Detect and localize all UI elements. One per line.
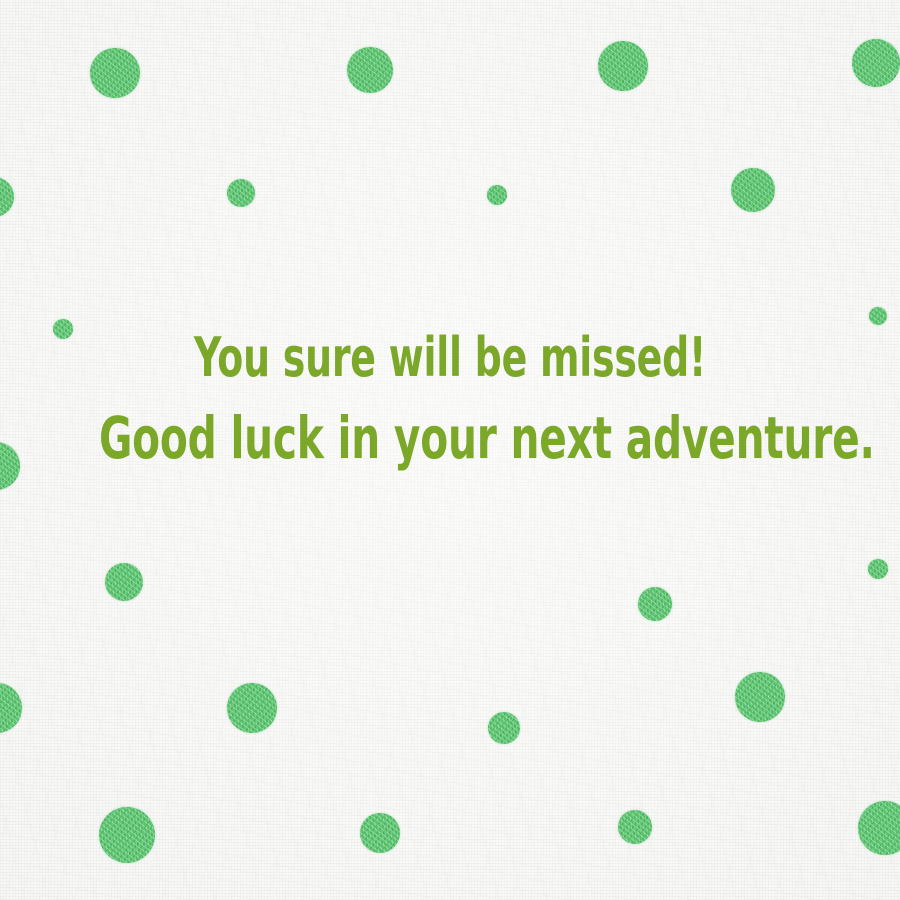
confetti-dot	[227, 179, 255, 207]
farewell-message: You sure will be missed! Good luck in yo…	[99, 318, 801, 478]
confetti-dot	[347, 47, 393, 93]
confetti-dot	[488, 712, 520, 744]
confetti-dot	[227, 683, 277, 733]
greeting-card: You sure will be missed! Good luck in yo…	[0, 0, 900, 900]
confetti-dot	[99, 807, 155, 863]
confetti-dot	[731, 168, 775, 212]
message-line-2: Good luck in your next adventure.	[99, 398, 801, 478]
confetti-dot	[598, 41, 648, 91]
confetti-dot	[858, 801, 900, 855]
confetti-dot	[618, 810, 652, 844]
confetti-dot	[90, 48, 140, 98]
confetti-dot	[53, 319, 73, 339]
confetti-dot	[735, 672, 785, 722]
confetti-dot	[638, 587, 672, 621]
confetti-dot	[868, 559, 888, 579]
confetti-dot	[0, 442, 20, 490]
confetti-dot	[0, 683, 22, 733]
confetti-dot	[105, 563, 143, 601]
confetti-dot	[869, 307, 887, 325]
confetti-dot	[0, 177, 14, 217]
message-line-1: You sure will be missed!	[99, 318, 801, 398]
confetti-dot	[487, 185, 507, 205]
confetti-dot	[852, 39, 900, 87]
confetti-dot	[360, 813, 400, 853]
